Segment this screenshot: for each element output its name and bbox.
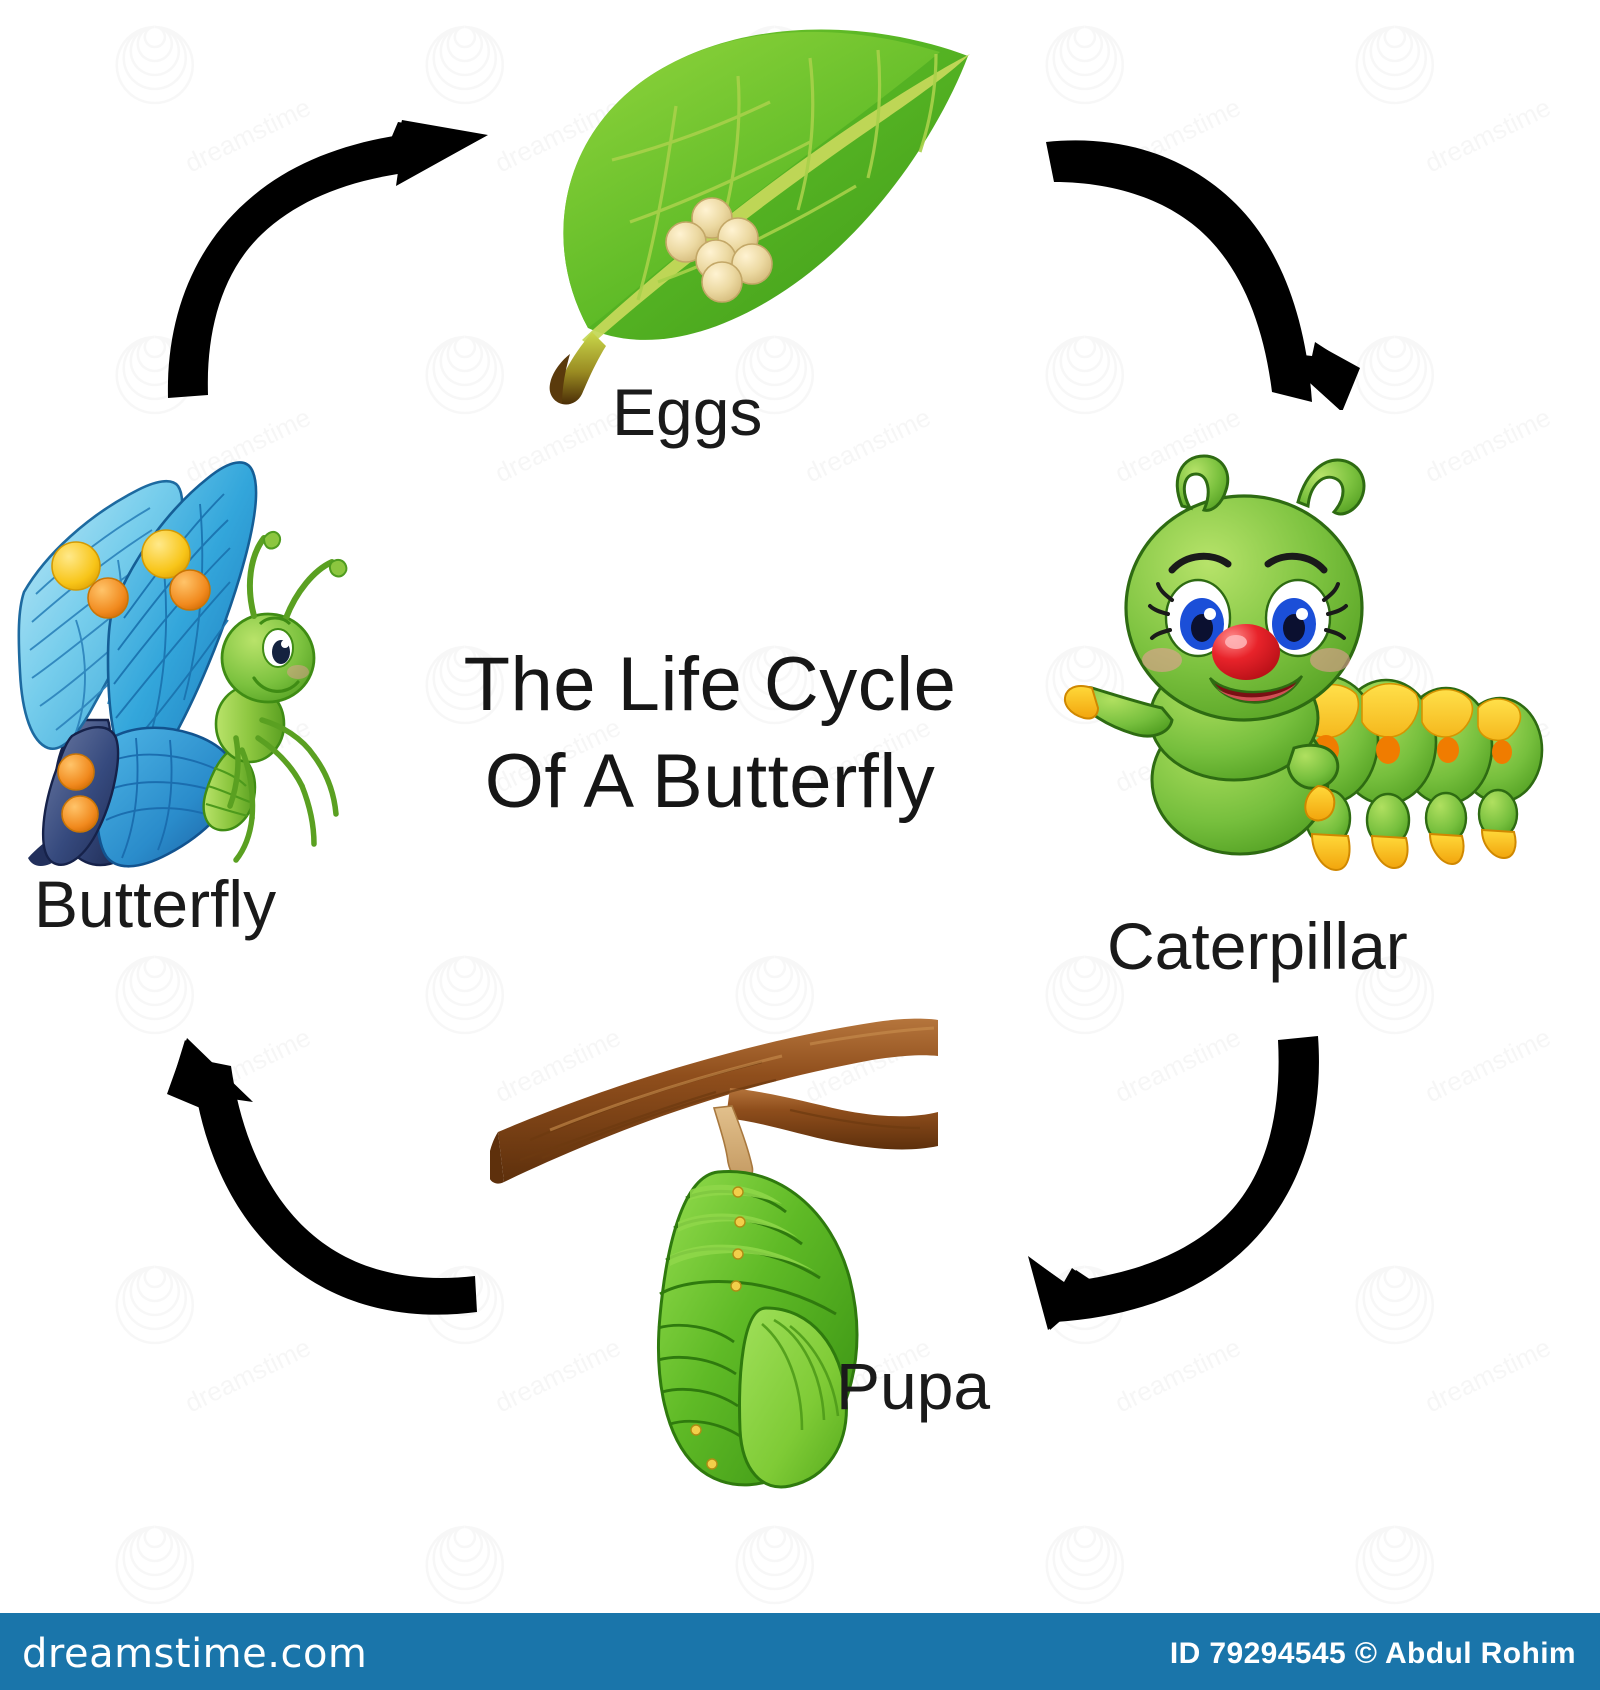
watermark-text: dreamstime: [180, 1332, 316, 1419]
watermark-text: dreamstime: [490, 402, 626, 489]
watermark-text: dreamstime: [1420, 1332, 1556, 1419]
watermark-text: dreamstime: [800, 402, 936, 489]
arrow-butterfly-to-eggs-icon: [150, 110, 490, 400]
watermark-text: dreamstime: [1110, 1332, 1246, 1419]
stage-label-eggs: Eggs: [612, 374, 762, 450]
dreamstime-logo[interactable]: dreamstime.com: [22, 1631, 367, 1673]
watermark-text: dreamstime: [1420, 1022, 1556, 1109]
stage-label-butterfly: Butterfly: [34, 866, 276, 942]
leaf-with-eggs-icon: [470, 10, 990, 410]
lifecycle-diagram: dreamstime dreamstime dreamstime dreamst…: [0, 0, 1600, 1613]
stage-label-caterpillar: Caterpillar: [1107, 908, 1408, 984]
watermark-text: dreamstime: [1420, 92, 1556, 179]
image-credit: ID 79294545 © Abdul Rohim: [1170, 1637, 1576, 1671]
footer-bar: dreamstime.com ID 79294545 © Abdul Rohim: [0, 1613, 1600, 1690]
page-title-line-1: The Life Cycle: [400, 636, 1020, 733]
butterfly-icon: [10, 420, 350, 870]
page-title: The Life Cycle Of A Butterfly: [400, 636, 1020, 831]
arrow-pupa-to-butterfly-icon: [155, 1030, 485, 1330]
arrow-caterpillar-to-pupa-icon: [1020, 1030, 1340, 1330]
page-title-line-2: Of A Butterfly: [400, 733, 1020, 830]
stage-label-pupa: Pupa: [836, 1348, 990, 1424]
caterpillar-icon: [1030, 450, 1590, 890]
arrow-eggs-to-caterpillar-icon: [1040, 120, 1370, 410]
